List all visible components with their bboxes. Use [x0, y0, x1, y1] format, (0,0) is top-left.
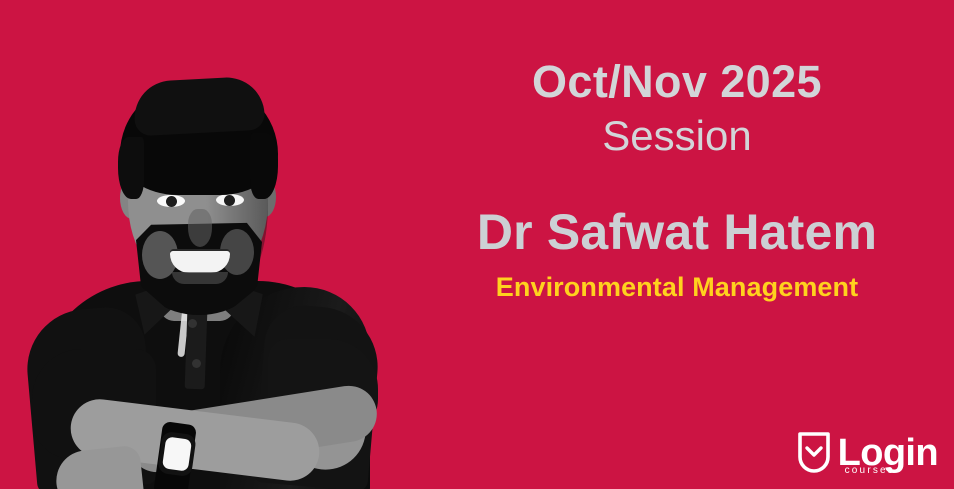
speaker-portrait — [10, 19, 390, 489]
shirt-button-bottom — [192, 359, 201, 368]
hair-side-right — [250, 133, 278, 199]
speaker-name: Dr Safwat Hatem — [400, 203, 954, 261]
hair-highlight — [133, 76, 266, 137]
speaker-photo-area — [0, 0, 400, 489]
pupil-left — [166, 196, 177, 207]
logo-subtext: courses — [845, 466, 895, 476]
session-word-label: Session — [400, 112, 954, 160]
smile-teeth — [170, 251, 230, 273]
logo-text-group: Login courses — [838, 434, 938, 472]
lower-lip — [172, 272, 228, 284]
login-courses-logo[interactable]: Login courses — [797, 431, 938, 475]
nose — [188, 209, 212, 247]
hair-side-left — [118, 137, 144, 199]
session-date-label: Oct/Nov 2025 — [400, 56, 954, 108]
watch-screen — [162, 436, 192, 471]
shirt-button-top — [188, 319, 197, 328]
speaker-subject: Environmental Management — [400, 272, 954, 303]
banner-text-block: Oct/Nov 2025 Session Dr Safwat Hatem Env… — [400, 0, 954, 489]
promo-banner: Oct/Nov 2025 Session Dr Safwat Hatem Env… — [0, 0, 954, 489]
shield-check-icon — [797, 431, 831, 475]
pupil-right — [224, 195, 235, 206]
